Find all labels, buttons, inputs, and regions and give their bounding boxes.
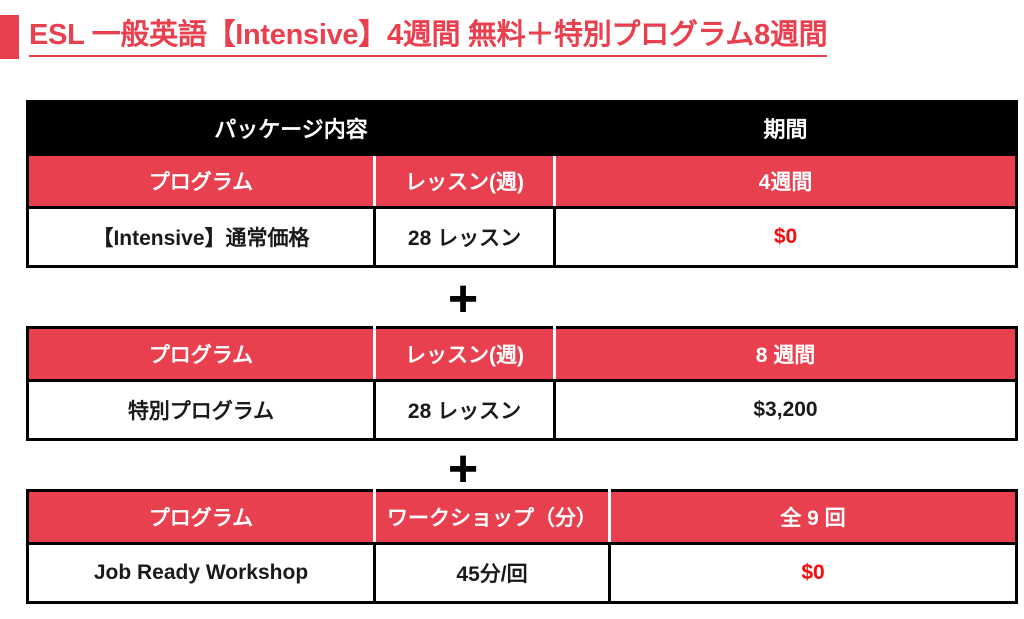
plus-separator-2: + — [0, 443, 1024, 495]
table-row: Job Ready Workshop 45分/回 $0 — [28, 544, 1017, 603]
plus-separator-1: + — [0, 273, 1024, 325]
col-header-program: プログラム — [28, 491, 375, 544]
table-intensive-package: パッケージ内容 期間 プログラム レッスン(週) 4週間 【Intensive】… — [26, 100, 1018, 268]
table-row: 【Intensive】通常価格 28 レッスン $0 — [28, 208, 1017, 267]
col-header-workshop: ワークショップ（分） — [375, 491, 610, 544]
table-job-ready-workshop-package: プログラム ワークショップ（分） 全 9 回 Job Ready Worksho… — [26, 489, 1018, 604]
page-title-text: ESL 一般英語【Intensive】4週間 無料＋特別プログラム8週間 — [29, 17, 827, 56]
plus-icon: + — [448, 443, 478, 495]
table-special-program-package: プログラム レッスン(週) 8 週間 特別プログラム 28 レッスン $3,20… — [26, 326, 1018, 441]
table-top-header-row: パッケージ内容 期間 — [28, 102, 1017, 155]
col-header-program: プログラム — [28, 155, 375, 208]
col-header-duration: 4週間 — [555, 155, 1017, 208]
page-title: ESL 一般英語【Intensive】4週間 無料＋特別プログラム8週間 — [0, 14, 827, 60]
col-header-duration: 8 週間 — [555, 328, 1017, 381]
header-package-contents: パッケージ内容 — [28, 102, 555, 155]
col-header-sessions: 全 9 回 — [610, 491, 1017, 544]
col-header-lessons: レッスン(週) — [375, 328, 555, 381]
cell-program: 特別プログラム — [28, 381, 375, 440]
plus-icon: + — [448, 273, 478, 325]
table-row: 特別プログラム 28 レッスン $3,200 — [28, 381, 1017, 440]
cell-lessons: 28 レッスン — [375, 208, 555, 267]
table-column-header-row: プログラム レッスン(週) 4週間 — [28, 155, 1017, 208]
cell-lessons: 45分/回 — [375, 544, 610, 603]
title-accent-bar — [0, 15, 19, 59]
table-column-header-row: プログラム レッスン(週) 8 週間 — [28, 328, 1017, 381]
cell-price: $0 — [555, 208, 1017, 267]
table-column-header-row: プログラム ワークショップ（分） 全 9 回 — [28, 491, 1017, 544]
col-header-program: プログラム — [28, 328, 375, 381]
cell-program: Job Ready Workshop — [28, 544, 375, 603]
header-duration: 期間 — [555, 102, 1017, 155]
col-header-lessons: レッスン(週) — [375, 155, 555, 208]
cell-price: $3,200 — [555, 381, 1017, 440]
cell-program: 【Intensive】通常価格 — [28, 208, 375, 267]
cell-lessons: 28 レッスン — [375, 381, 555, 440]
cell-price: $0 — [610, 544, 1017, 603]
